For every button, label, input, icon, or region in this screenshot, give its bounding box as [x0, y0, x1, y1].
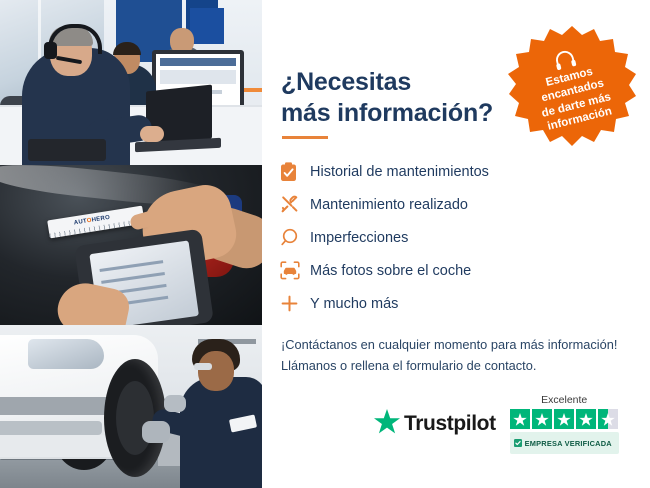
- feature-item-maintenance-history: Historial de mantenimientos: [280, 155, 560, 188]
- feature-label: Imperfecciones: [310, 230, 408, 246]
- mechanic-glove-lower: [142, 421, 170, 443]
- trustpilot-star-1: [510, 409, 530, 429]
- support-badge-text: Estamos encantados de darte más informac…: [513, 57, 635, 139]
- verified-company-badge: EMPRESA VERIFICADA: [510, 432, 619, 454]
- clipboard-check-icon: [280, 162, 310, 182]
- feature-item-imperfections: Imperfecciones: [280, 221, 560, 254]
- headset-earpiece: [44, 42, 57, 59]
- verified-check-icon: [514, 434, 522, 452]
- feature-list: Historial de mantenimientos Mantenimient…: [280, 155, 560, 320]
- page-title: ¿Necesitas más información?: [281, 67, 531, 130]
- feature-label: Mantenimiento realizado: [310, 197, 468, 213]
- wall-poster: [190, 8, 224, 44]
- call-center-agents-photo: [0, 0, 262, 165]
- trustpilot-stars: [510, 409, 618, 429]
- photo-column: AUTOHERO: [0, 0, 262, 488]
- trustpilot-star-5-half: [598, 409, 618, 429]
- page-title-line-1: ¿Necesitas: [281, 68, 411, 96]
- tablet-screen-line-1: [99, 260, 163, 272]
- verified-company-label: EMPRESA VERIFICADA: [525, 439, 612, 448]
- contact-text-line-2: Llámanos o rellena el formulario de cont…: [281, 356, 631, 377]
- feature-label: Historial de mantenimientos: [310, 164, 489, 180]
- trustpilot-rating[interactable]: Trustpilot Excelente: [374, 394, 619, 454]
- trustpilot-star-3: [554, 409, 574, 429]
- feature-label: Más fotos sobre el coche: [310, 263, 471, 279]
- trustpilot-star-icon: [374, 409, 400, 439]
- feature-item-more-photos: Más fotos sobre el coche: [280, 254, 560, 287]
- feature-item-maintenance-done: Mantenimiento realizado: [280, 188, 560, 221]
- monitor-ui-header: [160, 58, 236, 66]
- trustpilot-rating-label: Excelente: [541, 394, 587, 406]
- mechanic-head: [198, 351, 234, 391]
- trustpilot-score-block: Excelente: [510, 394, 619, 454]
- trustpilot-logo[interactable]: Trustpilot: [374, 409, 496, 439]
- magnifier-icon: [280, 228, 310, 247]
- mechanic-glove-upper: [164, 395, 186, 412]
- contact-text: ¡Contáctanos en cualquier momento para m…: [281, 335, 631, 376]
- information-banner: AUTOHERO: [0, 0, 650, 488]
- title-divider: [282, 136, 328, 139]
- support-badge: Estamos encantados de darte más informac…: [508, 24, 636, 152]
- trustpilot-star-4: [576, 409, 596, 429]
- content-panel: ¿Necesitas más información? Estamos: [262, 0, 650, 488]
- agent-hand: [140, 126, 164, 142]
- plus-icon: [280, 294, 310, 313]
- monitor-ui-body: [160, 70, 236, 84]
- trustpilot-wordmark: Trustpilot: [404, 412, 496, 436]
- contact-text-line-1: ¡Contáctanos en cualquier momento para m…: [281, 335, 631, 356]
- trustpilot-star-2: [532, 409, 552, 429]
- tablet-screen-line-2: [101, 272, 165, 284]
- car-grille-lower: [0, 421, 102, 435]
- feature-label: Y mucho más: [310, 296, 398, 312]
- car-headlight: [28, 339, 104, 369]
- feature-item-much-more: Y mucho más: [280, 287, 560, 320]
- mechanic-tire-inspection-photo: [0, 325, 262, 488]
- car-photo-frame-icon: [280, 261, 310, 280]
- car-inspection-ruler-photo: AUTOHERO: [0, 165, 262, 325]
- desk-tablet: [28, 139, 106, 161]
- mechanic-safety-glasses: [194, 363, 212, 370]
- tools-wrench-screwdriver-icon: [280, 195, 310, 214]
- page-title-line-2: más información?: [281, 98, 531, 130]
- tire-inner-rim: [116, 381, 154, 455]
